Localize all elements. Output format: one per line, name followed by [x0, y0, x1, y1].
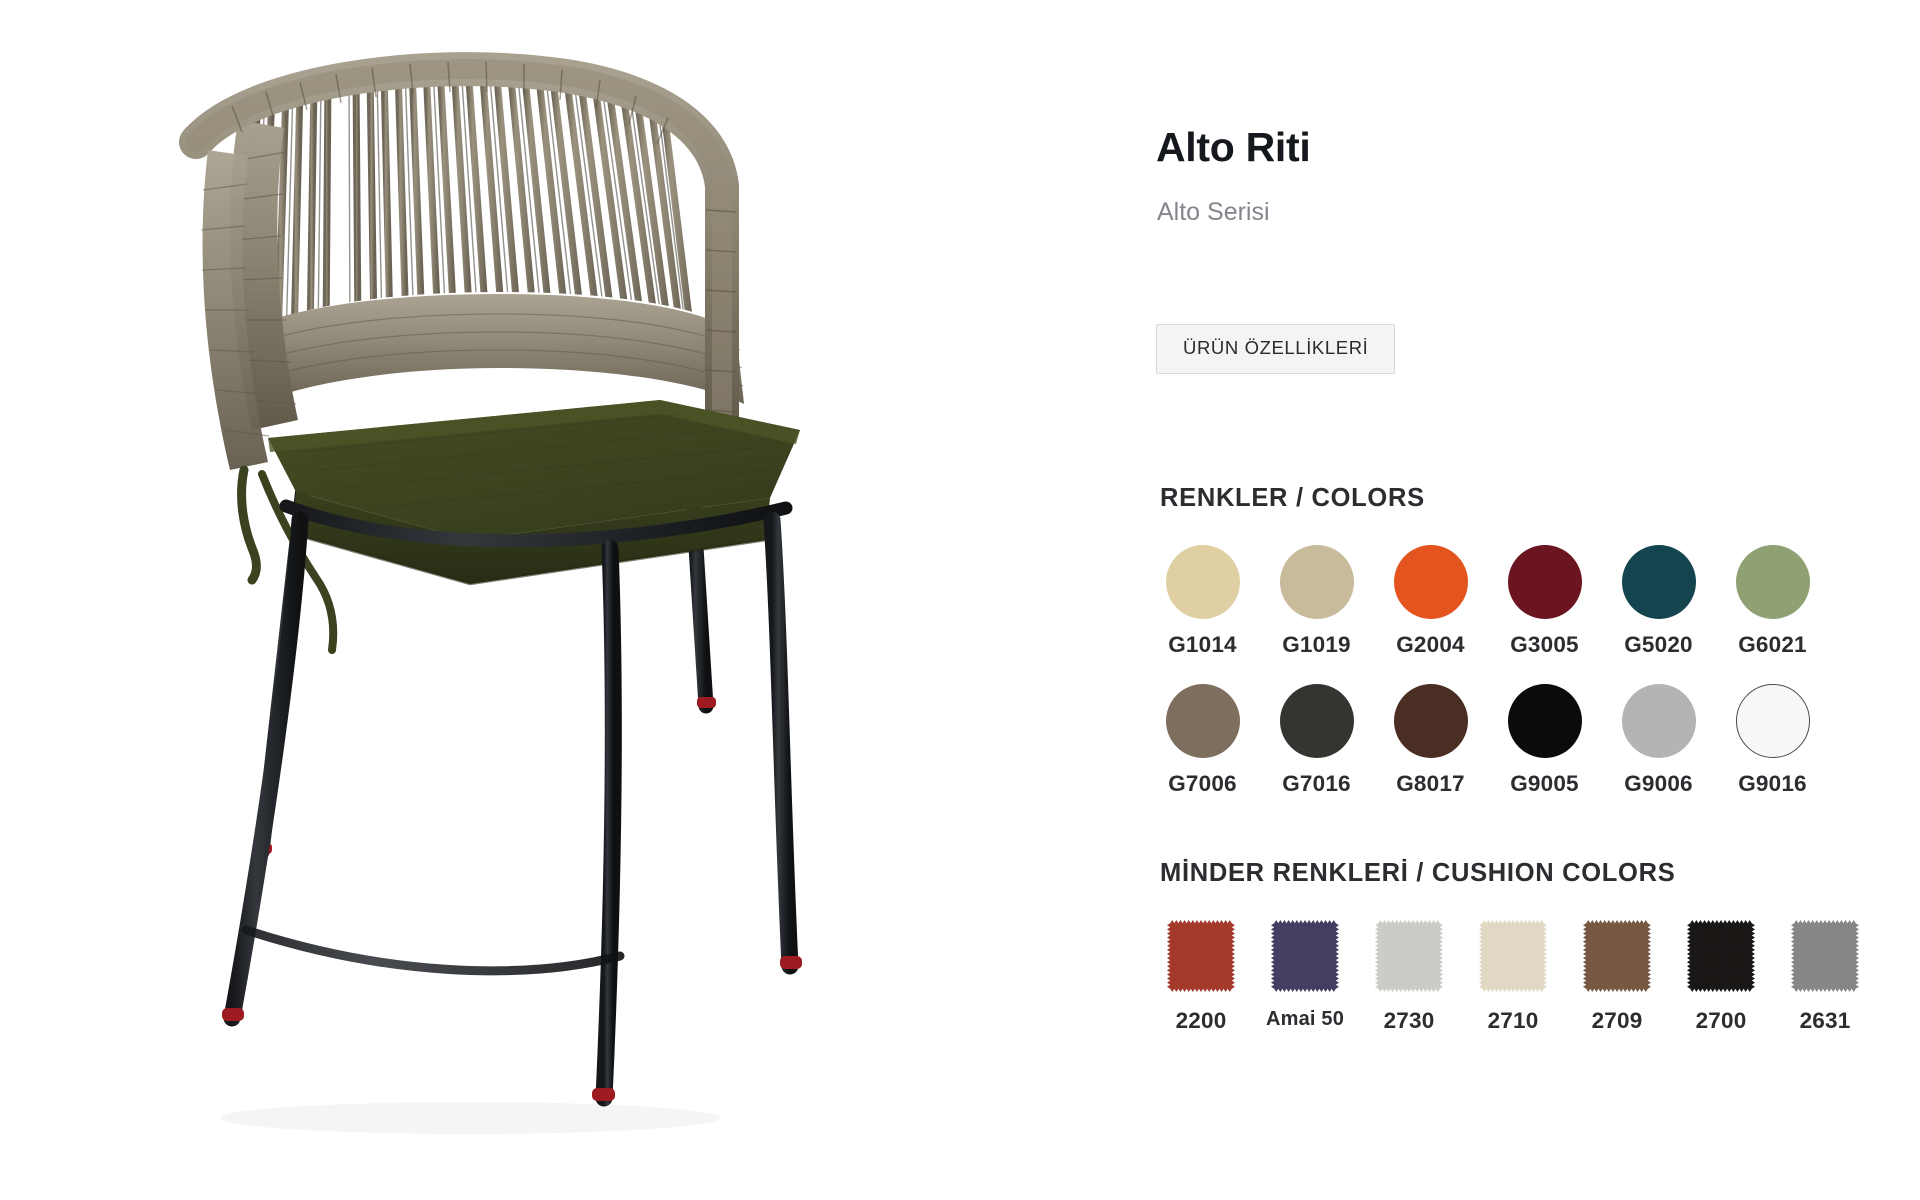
cushion-code-label: Amai 50: [1266, 1008, 1344, 1031]
color-code-label: G7006: [1168, 771, 1237, 797]
color-dot[interactable]: [1166, 545, 1240, 619]
fabric-chip[interactable]: [1375, 920, 1443, 992]
frame-color-swatch-grid: G1014 G1019 G2004 G3005 G5020: [1160, 545, 1860, 823]
cushion-color-swatch-grid: 2200 Amai 50 2730 2710 2709: [1160, 920, 1880, 1034]
cushion-swatch-2200[interactable]: 2200: [1160, 920, 1242, 1034]
color-swatch-g1014[interactable]: G1014: [1160, 545, 1245, 658]
color-code-label: G6021: [1738, 632, 1807, 658]
cushion-code-label: 2730: [1384, 1008, 1435, 1034]
floor-shadow: [220, 1102, 720, 1134]
product-image-pane: [0, 0, 960, 1200]
foot-cap-icon: [780, 956, 802, 969]
frame-color-row: G7006 G7016 G8017 G9005 G9006: [1160, 684, 1860, 797]
chair-illustration: [0, 0, 960, 1200]
cushion-swatch-2709[interactable]: 2709: [1576, 920, 1658, 1034]
cushion-swatch-amai-50[interactable]: Amai 50: [1264, 920, 1346, 1034]
color-code-label: G3005: [1510, 632, 1579, 658]
product-specs-button[interactable]: ÜRÜN ÖZELLİKLERİ: [1156, 324, 1395, 374]
color-dot[interactable]: [1622, 545, 1696, 619]
color-dot[interactable]: [1394, 545, 1468, 619]
color-swatch-g7006[interactable]: G7006: [1160, 684, 1245, 797]
cushion-swatch-2700[interactable]: 2700: [1680, 920, 1762, 1034]
cushion-tie-strap: [242, 470, 257, 580]
cushion-swatch-2730[interactable]: 2730: [1368, 920, 1450, 1034]
color-dot[interactable]: [1394, 684, 1468, 758]
color-dot[interactable]: [1736, 684, 1810, 758]
color-code-label: G2004: [1396, 632, 1465, 658]
fabric-chip[interactable]: [1167, 920, 1235, 992]
fabric-chip[interactable]: [1791, 920, 1859, 992]
cushion-code-label: 2709: [1592, 1008, 1643, 1034]
foot-cap-icon: [697, 697, 716, 708]
color-code-label: G9005: [1510, 771, 1579, 797]
frame-color-row: G1014 G1019 G2004 G3005 G5020: [1160, 545, 1860, 658]
product-series-label: Alto Serisi: [1157, 198, 1270, 227]
color-code-label: G1019: [1282, 632, 1351, 658]
cushion-swatch-2710[interactable]: 2710: [1472, 920, 1554, 1034]
color-code-label: G1014: [1168, 632, 1237, 658]
color-swatch-g6021[interactable]: G6021: [1730, 545, 1815, 658]
color-dot[interactable]: [1736, 545, 1810, 619]
color-swatch-g5020[interactable]: G5020: [1616, 545, 1701, 658]
color-swatch-g1019[interactable]: G1019: [1274, 545, 1359, 658]
fabric-chip[interactable]: [1479, 920, 1547, 992]
color-swatch-g9016[interactable]: G9016: [1730, 684, 1815, 797]
chair-product-photo: [0, 0, 960, 1200]
color-swatch-g8017[interactable]: G8017: [1388, 684, 1473, 797]
fabric-chip[interactable]: [1583, 920, 1651, 992]
color-dot[interactable]: [1166, 684, 1240, 758]
foot-cap-icon: [592, 1088, 615, 1101]
color-code-label: G5020: [1624, 632, 1693, 658]
color-swatch-g2004[interactable]: G2004: [1388, 545, 1473, 658]
page-title: Alto Riti: [1156, 124, 1310, 171]
color-code-label: G9016: [1738, 771, 1807, 797]
cushion-code-label: 2631: [1800, 1008, 1851, 1034]
cushion-section-heading: MİNDER RENKLERİ / CUSHION COLORS: [1160, 859, 1675, 888]
color-dot[interactable]: [1280, 545, 1354, 619]
cushion-code-label: 2700: [1696, 1008, 1747, 1034]
product-details-pane: Alto Riti Alto Serisi ÜRÜN ÖZELLİKLERİ R…: [960, 0, 1920, 1200]
color-swatch-g3005[interactable]: G3005: [1502, 545, 1587, 658]
color-swatch-g9005[interactable]: G9005: [1502, 684, 1587, 797]
color-dot[interactable]: [1280, 684, 1354, 758]
cushion-color-row: 2200 Amai 50 2730 2710 2709: [1160, 920, 1880, 1034]
product-page: Alto Riti Alto Serisi ÜRÜN ÖZELLİKLERİ R…: [0, 0, 1920, 1200]
chair-front-legs: [222, 506, 802, 1101]
color-swatch-g7016[interactable]: G7016: [1274, 684, 1359, 797]
chair-seat-cushion: [268, 400, 800, 584]
color-dot[interactable]: [1622, 684, 1696, 758]
cushion-swatch-2631[interactable]: 2631: [1784, 920, 1866, 1034]
foot-cap-icon: [222, 1008, 244, 1021]
fabric-chip[interactable]: [1687, 920, 1755, 992]
color-dot[interactable]: [1508, 684, 1582, 758]
color-code-label: G7016: [1282, 771, 1351, 797]
color-dot[interactable]: [1508, 545, 1582, 619]
color-code-label: G8017: [1396, 771, 1465, 797]
cushion-code-label: 2200: [1176, 1008, 1227, 1034]
color-code-label: G9006: [1624, 771, 1693, 797]
fabric-chip[interactable]: [1271, 920, 1339, 992]
colors-section-heading: RENKLER / COLORS: [1160, 484, 1425, 513]
cushion-code-label: 2710: [1488, 1008, 1539, 1034]
color-swatch-g9006[interactable]: G9006: [1616, 684, 1701, 797]
